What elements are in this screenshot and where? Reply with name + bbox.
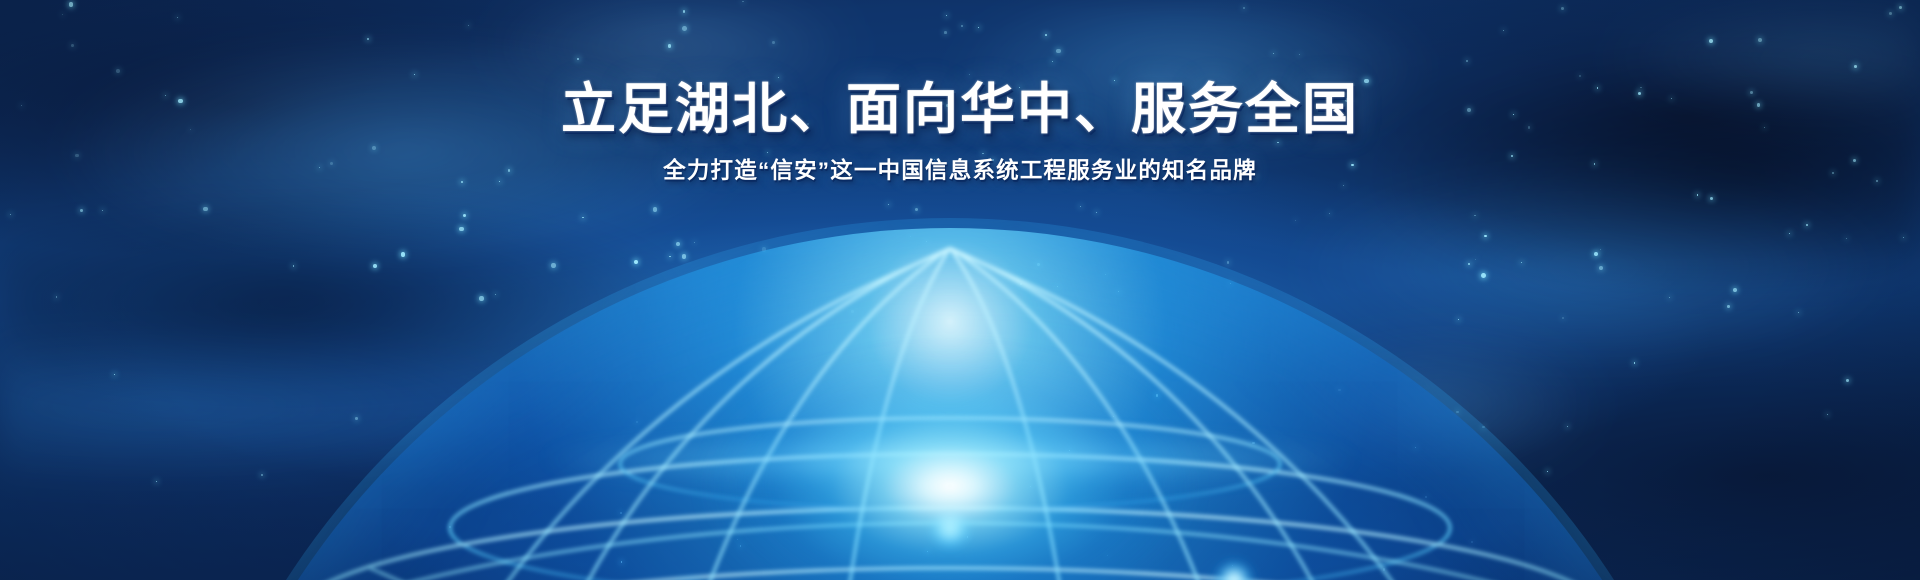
banner-headline: 立足湖北、面向华中、服务全国 [0, 78, 1920, 142]
hero-banner: 立足湖北、面向华中、服务全国 全力打造“信安”这一中国信息系统工程服务业的知名品… [0, 0, 1920, 580]
banner-subheadline: 全力打造“信安”这一中国信息系统工程服务业的知名品牌 [0, 156, 1920, 185]
banner-copy: 立足湖北、面向华中、服务全国 全力打造“信安”这一中国信息系统工程服务业的知名品… [0, 78, 1920, 185]
